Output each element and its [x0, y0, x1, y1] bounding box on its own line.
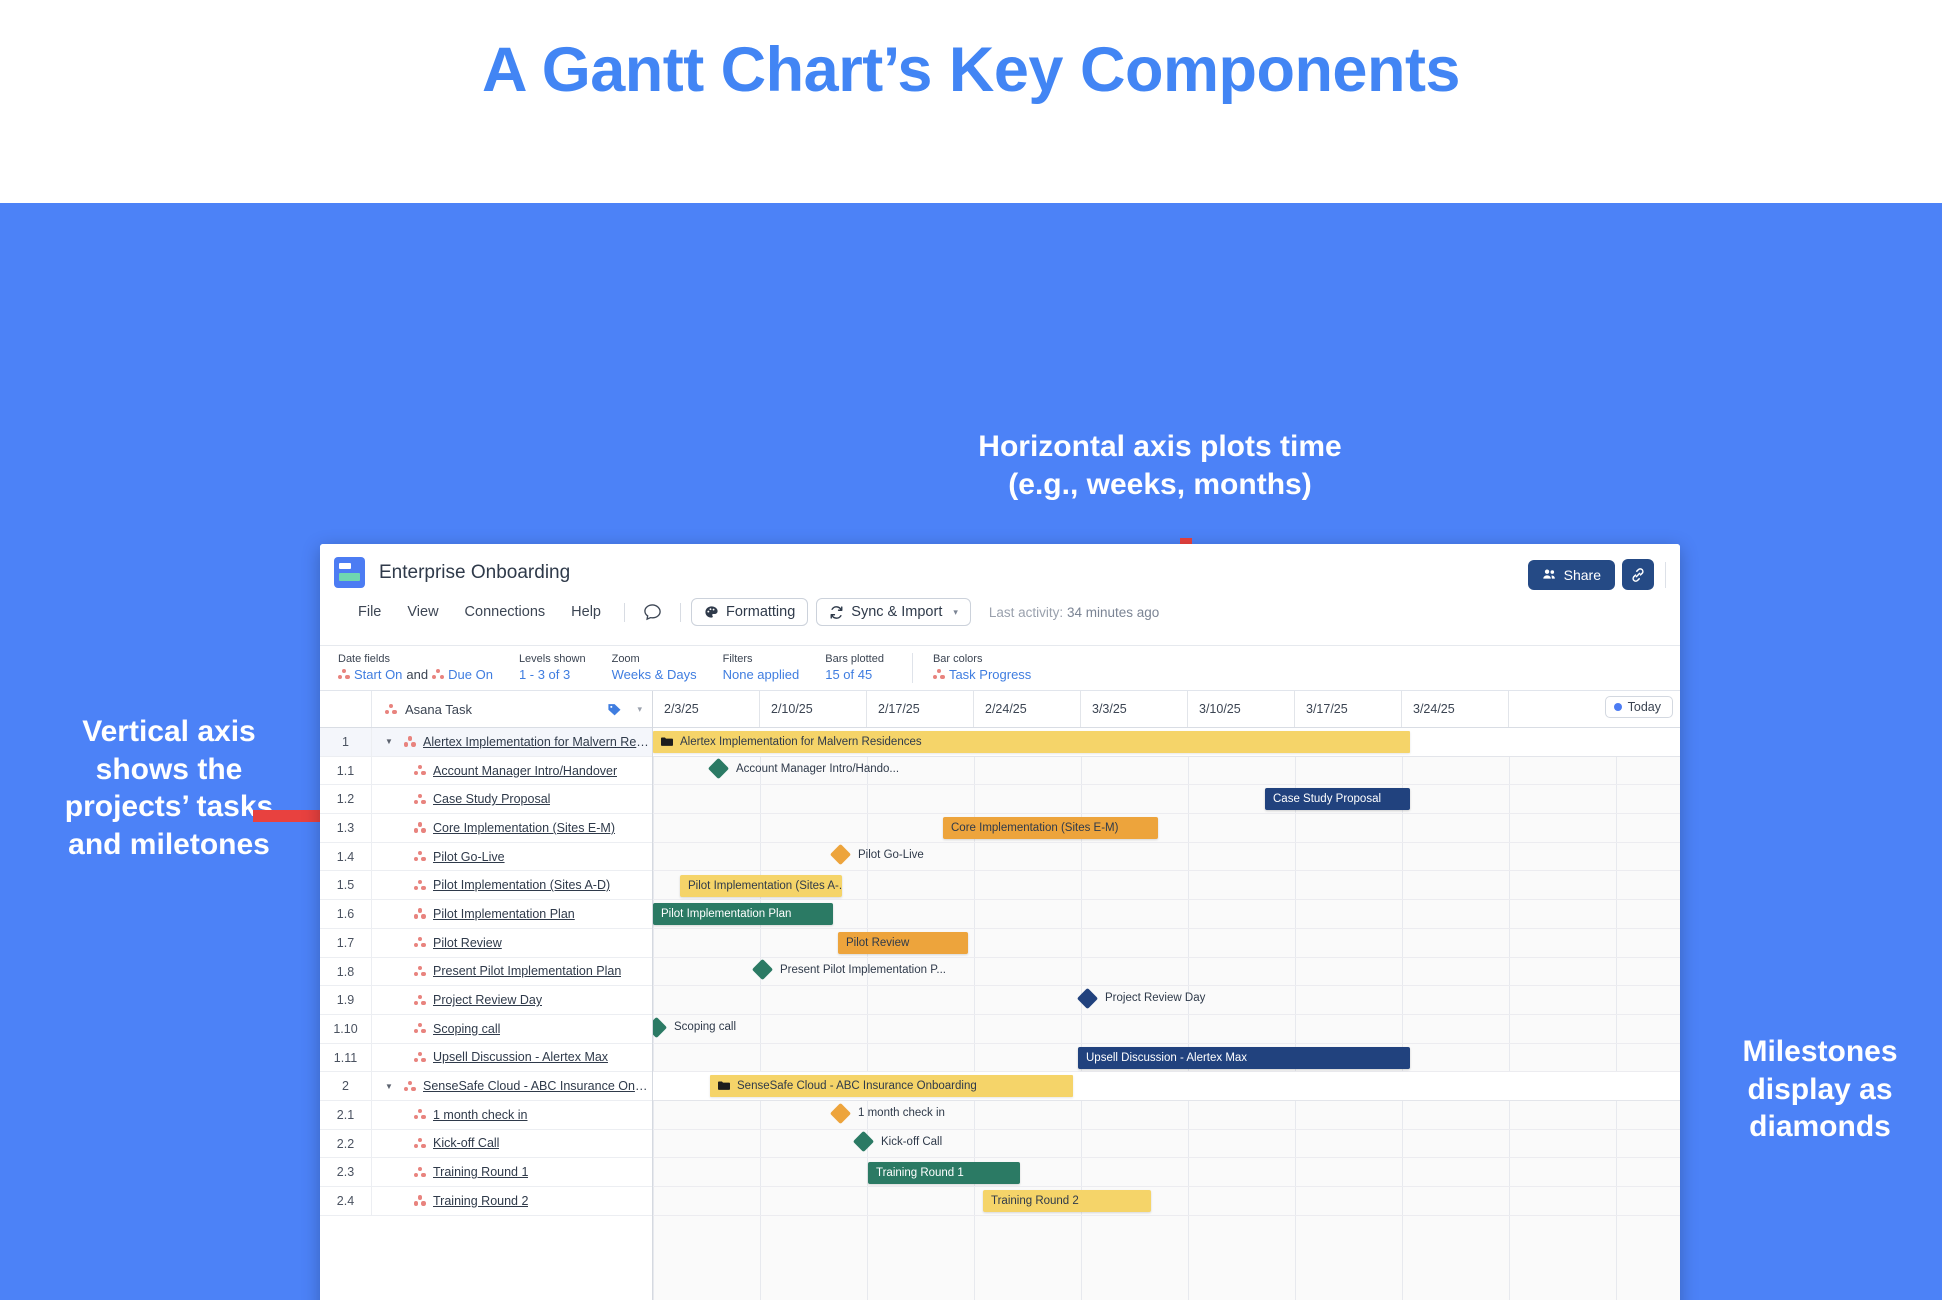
task-name-cell: ▼Alertex Implementation for Malvern Resi…	[372, 735, 652, 749]
setting-value[interactable]: Weeks & Days	[612, 666, 697, 684]
formatting-button[interactable]: Formatting	[691, 598, 808, 626]
timeline-axis-tick: 3/10/25	[1188, 691, 1295, 727]
task-name[interactable]: 1 month check in	[433, 1108, 528, 1122]
timeline-pane: 2/3/252/10/252/17/252/24/253/3/253/10/25…	[653, 691, 1680, 1300]
setting-levels-shown: Levels shown 1 - 3 of 3	[519, 653, 586, 683]
task-bar[interactable]: Pilot Review	[838, 932, 968, 954]
timeline-header: 2/3/252/10/252/17/252/24/253/3/253/10/25…	[653, 691, 1680, 728]
asana-dots-icon	[414, 851, 426, 862]
task-row[interactable]: 1.11Upsell Discussion - Alertex Max	[320, 1044, 652, 1073]
setting-label: Bar colors	[933, 653, 1031, 666]
milestone-label: 1 month check in	[858, 1107, 945, 1119]
today-dot-icon	[1614, 703, 1622, 711]
task-name[interactable]: Pilot Implementation (Sites A-D)	[433, 878, 610, 892]
task-name-cell: Pilot Implementation (Sites A-D)	[372, 878, 652, 892]
task-name[interactable]: Case Study Proposal	[433, 792, 550, 806]
page-title: A Gantt Chart’s Key Components	[0, 34, 1942, 106]
chevron-down-icon[interactable]: ▾	[637, 704, 642, 715]
timeline-axis-tick: 3/17/25	[1295, 691, 1402, 727]
summary-bar[interactable]: SenseSafe Cloud - ABC Insurance Onboardi…	[710, 1075, 1073, 1097]
task-name-cell: Scoping call	[372, 1022, 652, 1036]
task-bar[interactable]: Upsell Discussion - Alertex Max	[1078, 1047, 1410, 1069]
timeline-axis-tick: 2/17/25	[867, 691, 974, 727]
header-actions: Share	[1528, 559, 1666, 590]
row-number: 2.4	[320, 1187, 372, 1215]
menu-item-connections[interactable]: Connections	[452, 600, 559, 624]
task-column-label: Asana Task	[405, 702, 472, 717]
annotation-horizontal-axis: Horizontal axis plots time (e.g., weeks,…	[830, 428, 1490, 503]
row-number: 1.8	[320, 958, 372, 986]
timeline-row: Training Round 1	[653, 1159, 1680, 1188]
task-row[interactable]: 1.5Pilot Implementation (Sites A-D)	[320, 871, 652, 900]
timeline-row: SenseSafe Cloud - ABC Insurance Onboardi…	[653, 1072, 1680, 1101]
asana-dots-icon	[338, 669, 350, 680]
tag-icon[interactable]	[607, 702, 622, 717]
chevron-down-icon: ▾	[953, 607, 958, 618]
row-number: 1	[320, 728, 372, 756]
timeline-row: Present Pilot Implementation P...	[653, 958, 1680, 987]
setting-label: Bars plotted	[825, 653, 884, 666]
bar-label: Upsell Discussion - Alertex Max	[1086, 1052, 1247, 1064]
row-number: 1.6	[320, 900, 372, 928]
timeline-axis-tick: 3/3/25	[1081, 691, 1188, 727]
asana-dots-icon	[414, 1138, 426, 1149]
project-title: Enterprise Onboarding	[379, 562, 570, 584]
setting-bar-colors: Bar colors Task Progress	[933, 653, 1031, 683]
timeline-row: Scoping call	[653, 1015, 1680, 1044]
task-name-cell: Training Round 2	[372, 1194, 652, 1208]
timeline-row: Upsell Discussion - Alertex Max	[653, 1044, 1680, 1073]
task-bar[interactable]: Pilot Implementation (Sites A-...	[680, 875, 842, 897]
asana-dots-icon	[414, 822, 426, 833]
milestone-diamond[interactable]: Pilot Go-Live	[833, 847, 924, 862]
people-icon	[1542, 567, 1557, 582]
task-bar[interactable]: Core Implementation (Sites E-M)	[943, 817, 1158, 839]
asana-dots-icon	[414, 1052, 426, 1063]
milestone-label: Kick-off Call	[881, 1136, 942, 1148]
link-icon	[1630, 567, 1646, 583]
divider	[624, 603, 625, 622]
task-column-header: Asana Task ▾	[372, 691, 652, 727]
last-activity-label: Last activity:	[989, 605, 1063, 620]
asana-dots-icon	[414, 765, 426, 776]
diamond-icon	[708, 758, 729, 779]
task-name[interactable]: Pilot Review	[433, 936, 502, 950]
timeline-body: Alertex Implementation for Malvern Resid…	[653, 728, 1680, 1300]
today-button[interactable]: Today	[1605, 696, 1673, 718]
asana-dots-icon	[414, 1023, 426, 1034]
asana-dots-icon	[414, 1167, 426, 1178]
menu-bar: File View Connections Help Formatting	[320, 588, 1680, 626]
task-row[interactable]: 1.7Pilot Review	[320, 929, 652, 958]
setting-date-fields: Date fields Start On and Due On	[338, 653, 493, 683]
asana-dots-icon	[414, 880, 426, 891]
timeline-row: Pilot Implementation (Sites A-...	[653, 872, 1680, 901]
bar-label: SenseSafe Cloud - ABC Insurance Onboardi…	[737, 1080, 977, 1092]
task-name-cell: Account Manager Intro/Handover	[372, 764, 652, 778]
milestone-label: Pilot Go-Live	[858, 849, 924, 861]
menu-item-file[interactable]: File	[345, 600, 394, 624]
task-name[interactable]: Scoping call	[433, 1022, 500, 1036]
sync-import-label: Sync & Import	[851, 604, 942, 620]
row-number: 1.1	[320, 757, 372, 785]
timeline-row: Kick-off Call	[653, 1130, 1680, 1159]
timeline-axis-tick: 3/24/25	[1402, 691, 1509, 727]
bar-label: Pilot Implementation (Sites A-...	[688, 880, 842, 892]
task-row[interactable]: 2▼SenseSafe Cloud - ABC Insurance Onboar…	[320, 1072, 652, 1101]
task-bar[interactable]: Pilot Implementation Plan	[653, 903, 833, 925]
bar-label: Alertex Implementation for Malvern Resid…	[680, 736, 922, 748]
annotation-milestones: Milestones display as diamonds	[1700, 1033, 1940, 1146]
task-name-cell: Pilot Implementation Plan	[372, 907, 652, 921]
slide-stage: Horizontal axis plots time (e.g., weeks,…	[0, 203, 1942, 1300]
formatting-label: Formatting	[726, 604, 795, 620]
milestone-diamond[interactable]: Present Pilot Implementation P...	[755, 962, 946, 977]
timeline-row: Training Round 2	[653, 1187, 1680, 1216]
row-number: 1.9	[320, 986, 372, 1014]
task-row[interactable]: 2.4Training Round 2	[320, 1187, 652, 1216]
row-number: 1.10	[320, 1015, 372, 1043]
task-name[interactable]: Project Review Day	[433, 993, 542, 1007]
milestone-label: Scoping call	[674, 1021, 736, 1033]
today-label: Today	[1628, 700, 1661, 714]
menu-item-help[interactable]: Help	[558, 600, 614, 624]
asana-dots-icon	[414, 966, 426, 977]
app-header: Enterprise Onboarding File View Connecti…	[320, 544, 1680, 645]
collapse-caret-icon[interactable]: ▼	[385, 1082, 397, 1091]
date-field-due[interactable]: Due On	[448, 666, 493, 684]
bar-colors-value[interactable]: Task Progress	[949, 666, 1031, 684]
task-row[interactable]: 1.10Scoping call	[320, 1015, 652, 1044]
row-number: 1.5	[320, 871, 372, 899]
task-name[interactable]: Training Round 2	[433, 1194, 528, 1208]
brand-row: Enterprise Onboarding	[320, 544, 1680, 588]
task-name-cell: Present Pilot Implementation Plan	[372, 964, 652, 978]
milestone-diamond[interactable]: Project Review Day	[1080, 991, 1205, 1006]
task-name[interactable]: Upsell Discussion - Alertex Max	[433, 1050, 608, 1064]
row-number: 1.11	[320, 1044, 372, 1072]
asana-dots-icon	[933, 669, 945, 680]
task-list-pane: Asana Task ▾ 1▼Alertex Implementation fo…	[320, 691, 653, 1300]
joiner: and	[406, 666, 428, 684]
row-number: 1.2	[320, 785, 372, 813]
bar-label: Training Round 1	[876, 1167, 964, 1179]
date-field-start[interactable]: Start On	[354, 666, 402, 684]
task-row[interactable]: 2.11 month check in	[320, 1101, 652, 1130]
collapse-caret-icon[interactable]: ▼	[385, 737, 397, 746]
timeline-row: 1 month check in	[653, 1101, 1680, 1130]
task-name[interactable]: Alertex Implementation for Malvern Resid…	[423, 735, 652, 749]
diamond-icon	[853, 1131, 874, 1152]
task-row[interactable]: 1.4Pilot Go-Live	[320, 843, 652, 872]
bar-label: Core Implementation (Sites E-M)	[951, 822, 1118, 834]
task-row[interactable]: 1.8Present Pilot Implementation Plan	[320, 958, 652, 987]
setting-label: Date fields	[338, 653, 493, 666]
task-name[interactable]: Pilot Implementation Plan	[433, 907, 575, 921]
timeline-row: Pilot Go-Live	[653, 843, 1680, 872]
milestone-label: Account Manager Intro/Hando...	[736, 763, 899, 775]
sync-icon	[829, 605, 844, 620]
sync-import-button[interactable]: Sync & Import ▾	[816, 598, 971, 626]
bar-label: Training Round 2	[991, 1195, 1079, 1207]
setting-label: Levels shown	[519, 653, 586, 666]
diamond-icon	[830, 844, 851, 865]
task-row[interactable]: 2.2Kick-off Call	[320, 1130, 652, 1159]
gantt-grid: Asana Task ▾ 1▼Alertex Implementation fo…	[320, 691, 1680, 1300]
task-list-header: Asana Task ▾	[320, 691, 652, 728]
setting-bars-plotted: Bars plotted 15 of 45	[825, 653, 884, 683]
asana-dots-icon	[432, 669, 444, 680]
menu-item-view[interactable]: View	[394, 600, 451, 624]
asana-dots-icon	[385, 704, 397, 715]
setting-filters: Filters None applied	[723, 653, 800, 683]
task-name-cell: ▼SenseSafe Cloud - ABC Insurance Onboard…	[372, 1079, 652, 1093]
task-name[interactable]: Training Round 1	[433, 1165, 528, 1179]
task-name-cell: Upsell Discussion - Alertex Max	[372, 1050, 652, 1064]
asana-dots-icon	[404, 1081, 416, 1092]
asana-dots-icon	[404, 736, 416, 747]
diamond-icon	[653, 1016, 667, 1037]
last-activity-value: 34 minutes ago	[1067, 605, 1159, 620]
task-row[interactable]: 1.2Case Study Proposal	[320, 785, 652, 814]
app-logo-icon	[334, 557, 365, 588]
asana-dots-icon	[414, 908, 426, 919]
comment-icon[interactable]	[635, 601, 670, 624]
timeline-row: Core Implementation (Sites E-M)	[653, 814, 1680, 843]
task-name[interactable]: Account Manager Intro/Handover	[433, 764, 617, 778]
timeline-axis-tick: 2/3/25	[653, 691, 760, 727]
settings-strip: Date fields Start On and Due On Levels s…	[320, 645, 1680, 691]
task-name[interactable]: Core Implementation (Sites E-M)	[433, 821, 615, 835]
task-name[interactable]: Present Pilot Implementation Plan	[433, 964, 621, 978]
row-number-header	[320, 691, 372, 727]
task-row[interactable]: 1.9Project Review Day	[320, 986, 652, 1015]
setting-value[interactable]: None applied	[723, 666, 800, 684]
timeline-row: Case Study Proposal	[653, 785, 1680, 814]
share-label: Share	[1564, 567, 1601, 583]
timeline-axis-tick: 2/10/25	[760, 691, 867, 727]
task-name-cell: Core Implementation (Sites E-M)	[372, 821, 652, 835]
setting-value[interactable]: Task Progress	[933, 666, 1031, 684]
divider	[912, 653, 913, 683]
bar-label: Pilot Implementation Plan	[661, 908, 791, 920]
task-bar[interactable]: Case Study Proposal	[1265, 788, 1410, 810]
bar-label: Case Study Proposal	[1273, 793, 1381, 805]
task-name-cell: 1 month check in	[372, 1108, 652, 1122]
task-row[interactable]: 1.3Core Implementation (Sites E-M)	[320, 814, 652, 843]
task-row[interactable]: 1.6Pilot Implementation Plan	[320, 900, 652, 929]
asana-dots-icon	[414, 1109, 426, 1120]
diamond-icon	[1077, 988, 1098, 1009]
setting-zoom: Zoom Weeks & Days	[612, 653, 697, 683]
task-row[interactable]: 2.3Training Round 1	[320, 1158, 652, 1187]
asana-dots-icon	[414, 1195, 426, 1206]
task-name-cell: Kick-off Call	[372, 1136, 652, 1150]
setting-label: Zoom	[612, 653, 697, 666]
row-number: 1.3	[320, 814, 372, 842]
asana-dots-icon	[414, 937, 426, 948]
palette-icon	[704, 605, 719, 620]
gantt-app-window: Enterprise Onboarding File View Connecti…	[320, 544, 1680, 1300]
row-number: 2.2	[320, 1130, 372, 1158]
diamond-icon	[830, 1102, 851, 1123]
milestone-diamond[interactable]: 1 month check in	[833, 1106, 945, 1121]
setting-value[interactable]: 1 - 3 of 3	[519, 666, 586, 684]
task-bar[interactable]: Training Round 2	[983, 1190, 1151, 1212]
row-number: 2.1	[320, 1101, 372, 1129]
setting-value[interactable]: Start On and Due On	[338, 666, 493, 684]
task-name[interactable]: Pilot Go-Live	[433, 850, 505, 864]
asana-dots-icon	[414, 995, 426, 1006]
bar-label: Pilot Review	[846, 937, 909, 949]
row-number: 2	[320, 1072, 372, 1100]
copy-link-button[interactable]	[1622, 559, 1654, 590]
row-number: 2.3	[320, 1158, 372, 1186]
task-name-cell: Training Round 1	[372, 1165, 652, 1179]
diamond-icon	[752, 959, 773, 980]
divider	[680, 603, 681, 622]
asana-dots-icon	[414, 794, 426, 805]
row-number: 1.4	[320, 843, 372, 871]
summary-bar[interactable]: Alertex Implementation for Malvern Resid…	[653, 731, 1410, 753]
divider	[1665, 562, 1666, 588]
row-number: 1.7	[320, 929, 372, 957]
task-name[interactable]: SenseSafe Cloud - ABC Insurance Onboardi…	[423, 1079, 652, 1093]
share-button[interactable]: Share	[1528, 560, 1615, 590]
task-name[interactable]: Kick-off Call	[433, 1136, 499, 1150]
task-row[interactable]: 1▼Alertex Implementation for Malvern Res…	[320, 728, 652, 757]
annotation-vertical-axis: Vertical axis shows the projects’ tasks …	[10, 713, 328, 863]
milestone-label: Present Pilot Implementation P...	[780, 964, 946, 976]
folder-icon	[718, 1081, 730, 1091]
task-rows: 1▼Alertex Implementation for Malvern Res…	[320, 728, 652, 1216]
title-band: A Gantt Chart’s Key Components	[0, 0, 1942, 203]
timeline-axis-tick: 2/24/25	[974, 691, 1081, 727]
milestone-diamond[interactable]: Account Manager Intro/Hando...	[711, 761, 899, 776]
task-name-cell: Project Review Day	[372, 993, 652, 1007]
timeline-row: Pilot Implementation Plan	[653, 900, 1680, 929]
milestone-label: Project Review Day	[1105, 992, 1205, 1004]
setting-value[interactable]: 15 of 45	[825, 666, 884, 684]
setting-label: Filters	[723, 653, 800, 666]
timeline-row: Project Review Day	[653, 986, 1680, 1015]
timeline-row: Alertex Implementation for Malvern Resid…	[653, 728, 1680, 757]
task-bar[interactable]: Training Round 1	[868, 1162, 1020, 1184]
timeline-row: Pilot Review	[653, 929, 1680, 958]
timeline-row: Account Manager Intro/Hando...	[653, 757, 1680, 786]
milestone-diamond[interactable]: Scoping call	[653, 1020, 736, 1035]
task-name-cell: Case Study Proposal	[372, 792, 652, 806]
folder-icon	[661, 737, 673, 747]
milestone-diamond[interactable]: Kick-off Call	[856, 1134, 942, 1149]
last-activity: Last activity: 34 minutes ago	[989, 605, 1159, 620]
task-row[interactable]: 1.1Account Manager Intro/Handover	[320, 757, 652, 786]
task-name-cell: Pilot Go-Live	[372, 850, 652, 864]
task-name-cell: Pilot Review	[372, 936, 652, 950]
